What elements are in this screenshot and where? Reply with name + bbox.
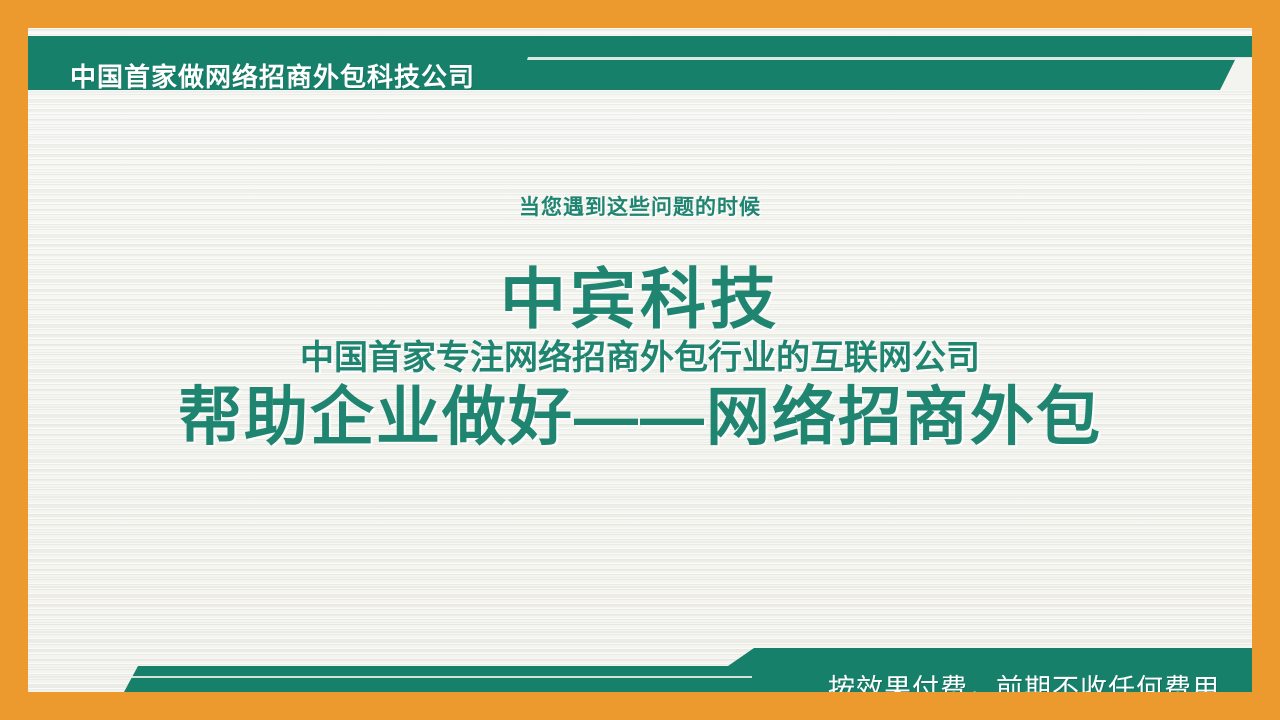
company-tagline: 中国首家专注网络招商外包行业的互联网公司 [28,341,1252,375]
footer-hairline [131,676,752,678]
header-tagline-label: 中国首家做网络招商外包科技公司 [70,64,475,90]
presentation-slide: 中国首家做网络招商外包科技公司 当您遇到这些问题的时候 中宾科技 中国首家专注网… [0,0,1280,720]
header-hairline [527,57,1252,60]
footer-offer-label: 按效果付费，前期不收任何费用 [828,676,1220,692]
slide-paper-area: 中国首家做网络招商外包科技公司 当您遇到这些问题的时候 中宾科技 中国首家专注网… [28,28,1252,692]
main-headline: 帮助企业做好——网络招商外包 [28,384,1252,451]
kicker-text: 当您遇到这些问题的时候 [28,191,1252,221]
footer-ribbon-left-band [124,666,754,692]
brand-title: 中宾科技 [28,266,1252,332]
